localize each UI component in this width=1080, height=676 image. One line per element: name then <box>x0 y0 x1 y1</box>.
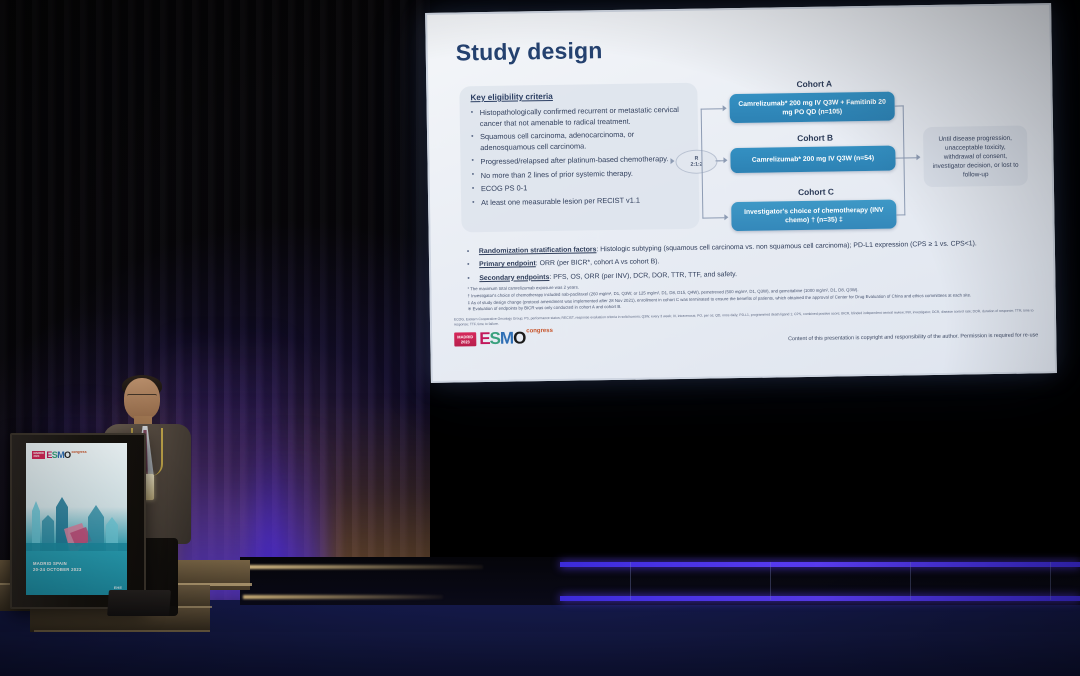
arrow-into-outcome <box>916 154 920 160</box>
treatment-duration-box: Until disease progression, unacceptable … <box>923 125 1028 187</box>
list-item: No more than 2 lines of prior systemic t… <box>471 167 691 181</box>
cohort-a-box: Camrelizumab* 200 mg IV Q3W + Famitinib … <box>729 92 894 124</box>
stage-led-strip-top <box>560 562 1080 567</box>
cohort-b-label: Cohort B <box>730 131 900 144</box>
esmo-letter-m: M <box>500 329 513 348</box>
list-item: Progressed/relapsed after platinum-based… <box>470 154 690 168</box>
photo-scene: Study design Key eligibility criteria Hi… <box>0 0 1080 676</box>
stage-panel-seam <box>910 562 911 600</box>
podium-esmo-wordmark: ESMO <box>46 451 70 460</box>
eligibility-heading: Key eligibility criteria <box>470 92 553 102</box>
esmo-logo: MADRID 2023 ESMO congress <box>454 329 553 348</box>
congress-label: congress <box>526 328 553 334</box>
podium-banner-text: MADRID SPAIN 20-24 OCTOBER 2023 <box>33 561 82 573</box>
podium-dates: 20-24 OCTOBER 2023 <box>33 567 82 573</box>
list-item: ECOG PS 0-1 <box>471 181 691 195</box>
podium-congress-label: congress <box>72 450 87 454</box>
stage-panel-seam <box>630 562 631 600</box>
madrid-badge: MADRID 2023 <box>454 332 476 346</box>
connector-collector <box>903 105 906 215</box>
stage-warm-edge-top <box>243 565 483 569</box>
stage-panel-seam <box>1050 562 1051 600</box>
bullet-rest: : ORR (per BICR*, cohort A vs cohort B). <box>536 259 660 268</box>
list-item: At least one measurable lesion per RECIS… <box>471 195 691 209</box>
bullet-rest: : Histologic subtyping (squamous cell ca… <box>596 240 977 253</box>
connector-a-out <box>895 105 904 106</box>
cohort-c-box: Investigator's choice of chemotherapy (I… <box>731 200 896 232</box>
bullet-lead: Primary endpoint <box>479 261 536 269</box>
eligibility-panel: Key eligibility criteria Histopathologic… <box>459 83 699 233</box>
connector-c-out <box>896 214 905 215</box>
copyright-notice: Content of this presentation is copyrigh… <box>788 332 1038 342</box>
list-item: Histopathologically confirmed recurrent … <box>470 105 690 130</box>
stage-monitor-speaker <box>107 590 171 616</box>
arrow-cohort-c <box>724 214 728 220</box>
esmo-letter-s: S <box>489 329 500 348</box>
esmo-wordmark: ESMO <box>479 329 525 347</box>
arrow-into-r <box>670 158 674 164</box>
esmo-letter-e: E <box>479 329 490 348</box>
podium-letter-o: O <box>64 450 70 460</box>
bullet-lead: Randomization stratification factors <box>479 246 597 255</box>
randomization-node: R 2:1:2 <box>675 149 717 174</box>
stage-led-strip-bottom <box>560 596 1080 601</box>
arrow-cohort-b <box>723 157 727 163</box>
stage-warm-edge-bottom <box>243 595 443 599</box>
podium-badge-year: 2023 <box>34 455 44 458</box>
podium-madrid-badge: MADRID 2023 <box>32 451 45 459</box>
madrid-badge-city: MADRID <box>457 334 473 339</box>
connector-to-cohort-c <box>702 217 724 218</box>
projection-screen: Study design Key eligibility criteria Hi… <box>425 3 1057 383</box>
eligibility-list: Histopathologically confirmed recurrent … <box>470 105 692 212</box>
podium: MADRID 2023 ESMO congress MADRID SPAIN 2… <box>10 433 146 609</box>
bullet-lead: Secondary endpoints <box>479 274 549 282</box>
podium-esmo-logo: MADRID 2023 ESMO congress <box>32 451 87 460</box>
bullet-rest: : PFS, OS, ORR (per INV), DCR, DOR, TTR,… <box>549 271 737 281</box>
podium-banner: MADRID 2023 ESMO congress MADRID SPAIN 2… <box>26 443 127 595</box>
stage-panel-seam <box>770 562 771 600</box>
list-item: Squamous cell carcinoma, adenocarcinoma,… <box>470 129 690 154</box>
cohort-b-box: Camrelizumab* 200 mg IV Q3W (n=54) <box>730 146 895 174</box>
esmo-letter-o: O <box>513 328 526 347</box>
slide-title: Study design <box>456 37 603 66</box>
madrid-badge-year: 2023 <box>457 339 473 344</box>
glasses-icon <box>127 394 157 402</box>
cohort-a-label: Cohort A <box>729 78 899 91</box>
arrow-cohort-a <box>723 105 727 111</box>
connector-to-cohort-a <box>701 108 723 109</box>
carpet-foreground <box>0 632 1080 676</box>
madrid-skyline-illustration <box>26 477 127 551</box>
cohort-c-label: Cohort C <box>731 185 901 198</box>
